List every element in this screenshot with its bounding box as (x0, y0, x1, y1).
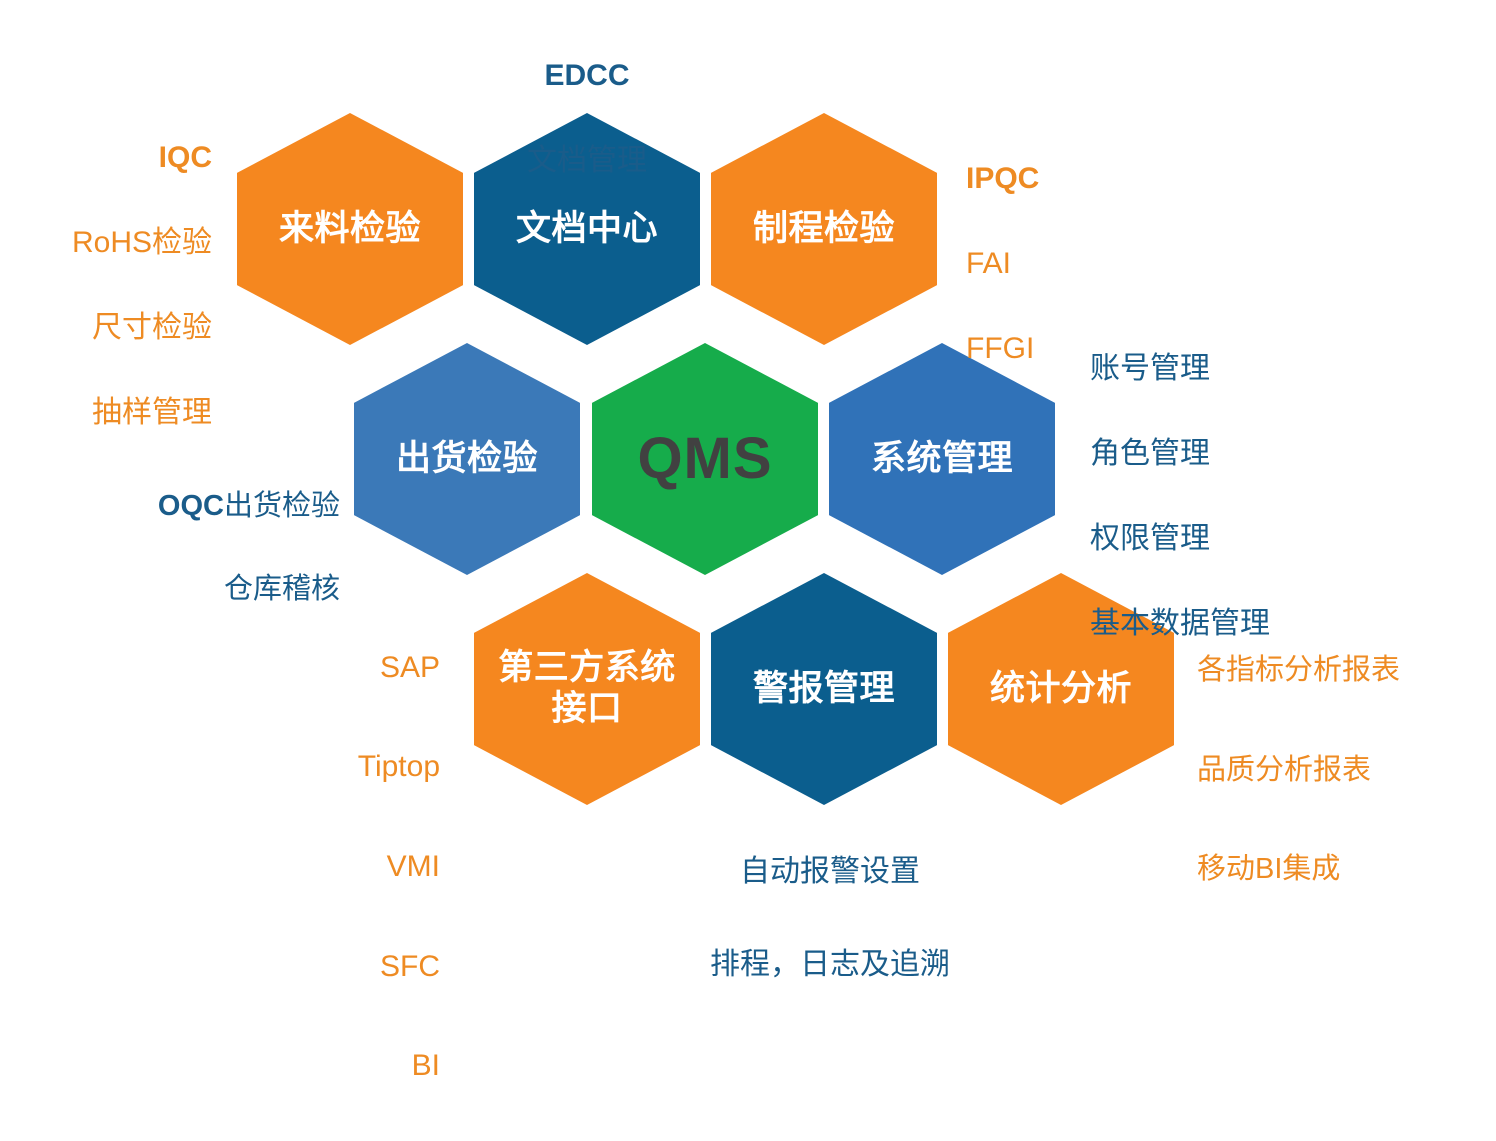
note-sysmgmt-line-2: 角色管理 (1090, 433, 1420, 476)
note-stats-line-2: 品质分析报表 (1197, 746, 1496, 796)
note-iqc-head: IQC (0, 137, 212, 180)
note-sysmgmt-line-3: 权限管理 (1090, 518, 1420, 561)
note-oqc-head: OQC (158, 490, 224, 522)
note-iqc-line-1: RoHS检验 (0, 222, 212, 265)
note-alarm-line-1: 自动报警设置 (620, 849, 1040, 896)
hex-label-incoming-inspection: 来料检验 (265, 209, 435, 250)
note-thirdparty-line-3: VMI (250, 842, 440, 892)
note-alarm-line-2: 排程，日志及追溯 (620, 942, 1040, 989)
note-edcc-line-1: 文档管理 (437, 140, 737, 183)
note-oqc-head-suffix: 出货检验 (224, 490, 340, 522)
note-alarm: 自动报警设置 排程，日志及追溯 (620, 802, 1040, 1035)
hex-label-alarm-management: 警报管理 (739, 669, 909, 710)
note-statistics: 各指标分析报表 品质分析报表 移动BI集成 (1197, 596, 1496, 945)
hex-qms-core[interactable]: QMS (592, 343, 818, 575)
note-ipqc-head: IPQC (966, 158, 1186, 201)
hex-process-inspection[interactable]: 制程检验 (711, 113, 937, 345)
note-ipqc-line-1: FAI (966, 243, 1186, 286)
hex-label-outgoing-inspection: 出货检验 (382, 439, 552, 480)
note-thirdparty-line-4: SFC (250, 942, 440, 992)
note-oqc-line-1: OQC出货检验 (20, 445, 340, 527)
note-iqc-line-2: 尺寸检验 (0, 307, 212, 350)
hex-incoming-inspection[interactable]: 来料检验 (237, 113, 463, 345)
hex-alarm-management[interactable]: 警报管理 (711, 573, 937, 805)
note-stats-line-3: 移动BI集成 (1197, 845, 1496, 895)
hex-label-process-inspection: 制程检验 (739, 209, 909, 250)
note-thirdparty-line-1: SAP (250, 643, 440, 693)
hex-label-third-party-interface: 第三方系统 接口 (484, 648, 690, 729)
note-third-party: SAP Tiptop VMI SFC BI (250, 593, 440, 1141)
note-sysmgmt-line-1: 账号管理 (1090, 348, 1420, 391)
note-stats-line-1: 各指标分析报表 (1197, 646, 1496, 696)
hex-third-party-interface[interactable]: 第三方系统 接口 (474, 573, 700, 805)
note-edcc: EDCC 文档管理 (437, 12, 737, 225)
hex-outgoing-inspection[interactable]: 出货检验 (354, 343, 580, 575)
hex-label-system-management: 系统管理 (857, 439, 1027, 480)
qms-hexagon-diagram: 来料检验 文档中心 制程检验 出货检验 QMS 系统管理 第三方系统 接口 警报… (0, 0, 1496, 918)
note-thirdparty-line-5: BI (250, 1041, 440, 1091)
note-edcc-head: EDCC (437, 55, 737, 98)
note-thirdparty-line-2: Tiptop (250, 742, 440, 792)
hex-label-qms-core: QMS (623, 425, 786, 492)
